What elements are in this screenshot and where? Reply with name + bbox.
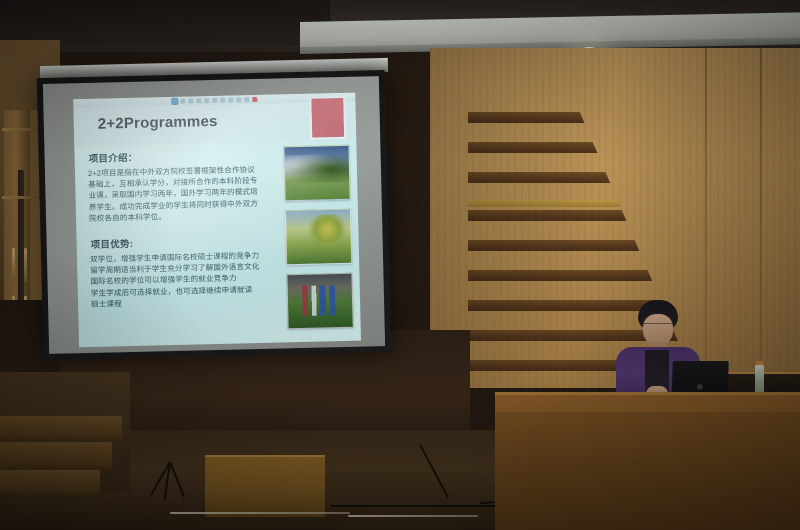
- wooden-riser-box: [205, 455, 325, 517]
- presentation-slide: 2+2Programmes 项目介绍： 2+2项目是指在中外双方院校签署框架性合…: [73, 93, 361, 348]
- settings-icon[interactable]: [244, 97, 249, 102]
- floor-cable-black: [330, 505, 500, 507]
- slide-icon[interactable]: [212, 98, 217, 103]
- powerpoint-app-icon[interactable]: [172, 99, 177, 104]
- step: [0, 470, 100, 497]
- soccer-match-photo: [286, 273, 353, 330]
- shape-icon[interactable]: [196, 98, 201, 103]
- record-icon[interactable]: [252, 97, 257, 102]
- screen-surface: 2+2Programmes 项目介绍： 2+2项目是指在中外双方院校签署框架性合…: [43, 76, 385, 354]
- projection-screen: 2+2Programmes 项目介绍： 2+2项目是指在中外双方院校签署框架性合…: [37, 70, 392, 360]
- campus-autumn-photo: [285, 209, 352, 266]
- glasses-icon: [643, 323, 673, 329]
- cursor-icon[interactable]: [180, 99, 185, 104]
- section-heading-intro: 项目介绍：: [88, 147, 260, 165]
- step: [0, 442, 112, 471]
- campus-archway-photo: [283, 145, 350, 202]
- podium-front-panel: [495, 412, 800, 530]
- lecture-hall-scene: 2+2Programmes 项目介绍： 2+2项目是指在中外双方院校签署框架性合…: [0, 0, 800, 530]
- section-heading-advantages: 项目优势:: [90, 233, 262, 251]
- step: [0, 416, 122, 443]
- zoom-icon[interactable]: [188, 98, 193, 103]
- slide-body: 项目介绍： 2+2项目是指在中外双方院校签署框架性合作协议 基础上，互相承认学分…: [85, 147, 264, 310]
- tripod-leg: [169, 462, 185, 498]
- laptop-logo-icon: [697, 384, 703, 390]
- slide-photo-column: [283, 145, 352, 338]
- link-icon[interactable]: [236, 97, 241, 102]
- slide-accent-block: [309, 96, 346, 140]
- chart-icon[interactable]: [228, 98, 233, 103]
- door-handle-icon[interactable]: [12, 248, 15, 282]
- door-handle-icon[interactable]: [24, 248, 27, 282]
- floor-cable-white: [170, 512, 350, 514]
- projector-tripod: [145, 462, 195, 502]
- floor-cable-white: [348, 515, 478, 517]
- table-icon[interactable]: [220, 98, 225, 103]
- slide-title: 2+2Programmes: [98, 113, 218, 133]
- stage-steps: [0, 372, 130, 492]
- image-icon[interactable]: [204, 98, 209, 103]
